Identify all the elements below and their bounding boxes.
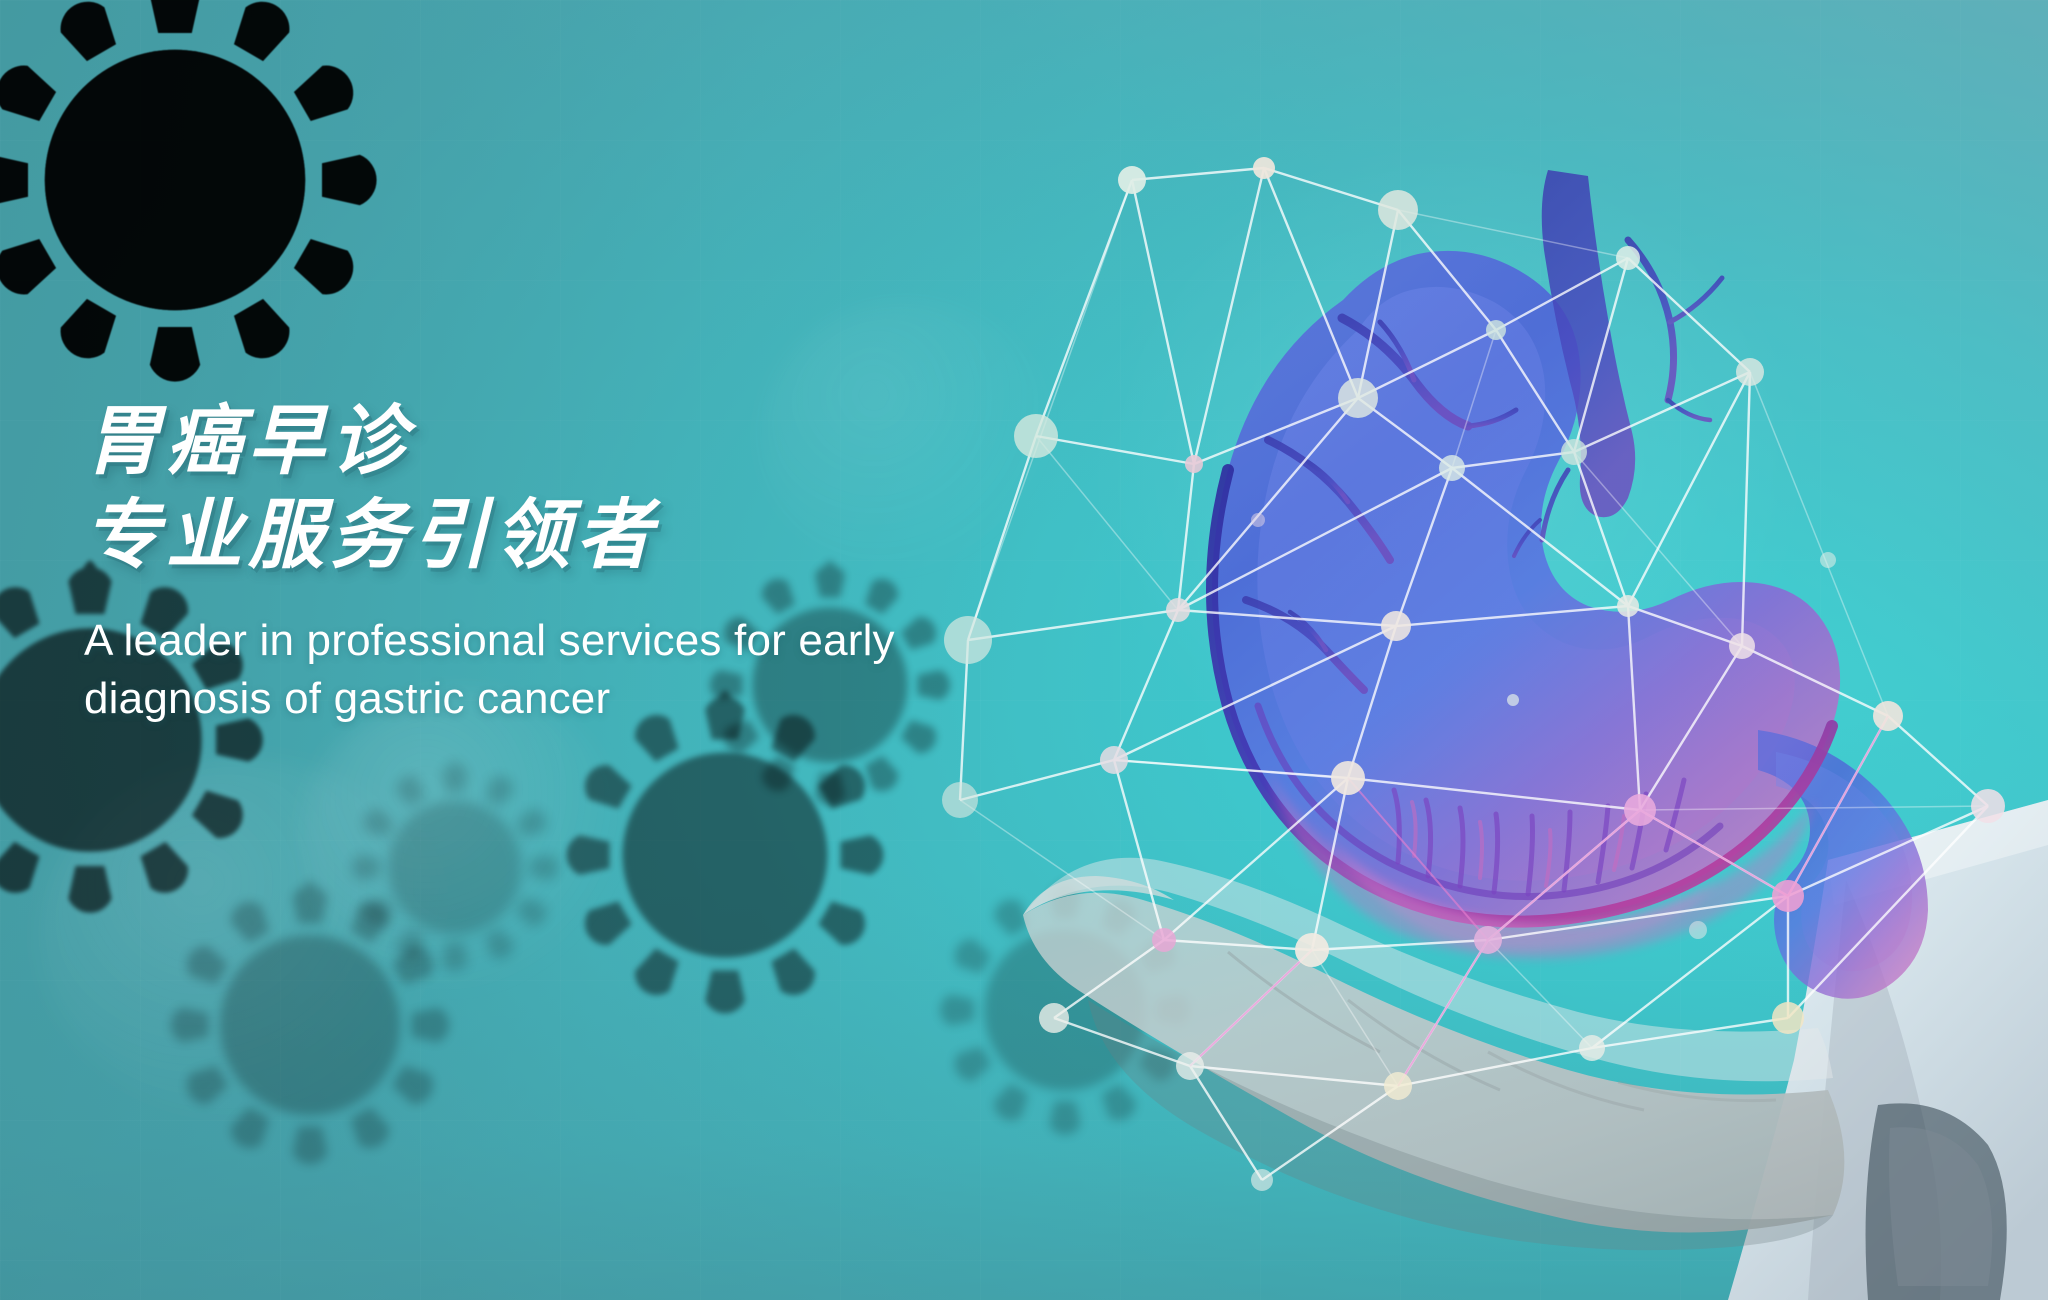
background-light-blob [40,760,460,1120]
headline-line-1: 胃癌早诊 [84,404,964,480]
subtitle-block: A leader in professional services for ea… [84,612,964,728]
hand-holding-stomach-artwork [928,0,2048,1300]
virus-watermark-icon [345,760,565,975]
headline-line-2: 专业服务引领者 [84,498,964,574]
promotional-banner: 胃癌早诊 专业服务引领者 A leader in professional se… [0,0,2048,1300]
background-light-blob [300,690,630,990]
virus-watermark-icon [560,690,890,1020]
subtitle-line-2: diagnosis of gastric cancer [84,670,964,728]
subtitle-line-1: A leader in professional services for ea… [84,612,964,670]
virus-watermark-icon [160,880,460,1170]
virus-watermark-icon [0,0,390,390]
headline-block: 胃癌早诊 专业服务引领者 A leader in professional se… [84,404,964,728]
